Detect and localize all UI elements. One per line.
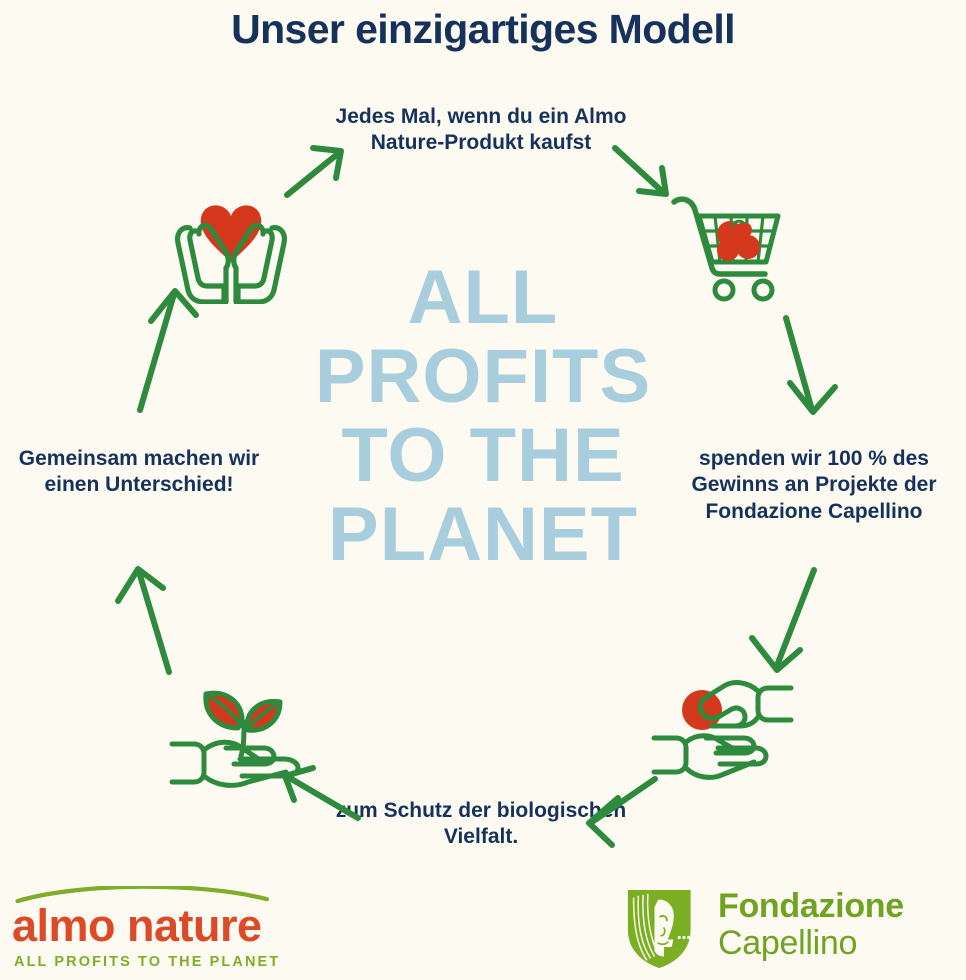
fondazione-line-2: Capellino — [718, 925, 904, 962]
fondazione-shield-icon — [626, 888, 702, 970]
shopping-cart-icon — [668, 190, 788, 302]
almo-nature-tagline: ALL PROFITS TO THE PLANET — [14, 955, 284, 970]
almo-nature-wordmark: almo nature — [12, 903, 284, 948]
step-caption-right: spenden wir 100 % des Gewinns an Projekt… — [664, 446, 964, 525]
fondazione-line-1: Fondazione — [718, 888, 904, 925]
fondazione-capellino-logo: Fondazione Capellino — [626, 886, 956, 972]
step-caption-top: Jedes Mal, wenn du ein Almo Nature-Produ… — [311, 104, 651, 157]
arrow-plant-to-left — [118, 569, 169, 672]
step-caption-left: Gemeinsam machen wir einen Unterschied! — [8, 446, 270, 499]
almo-nature-logo: almo nature ALL PROFITS TO THE PLANET — [4, 886, 284, 978]
page-title: Unser einzigartiges Modell — [0, 6, 966, 53]
center-slogan-line-1: ALL — [0, 258, 966, 337]
center-slogan-line-2: PROFITS — [0, 337, 966, 416]
plant-in-hand-icon — [168, 672, 312, 792]
coin-giving-hands-icon — [650, 676, 794, 792]
heart-in-hands-icon — [168, 186, 294, 304]
arrow-right-to-coin — [752, 570, 814, 670]
infographic-canvas: Unser einzigartiges Modell ALL PROFITS T… — [0, 0, 966, 980]
step-caption-bottom: zum Schutz der biologischen Vielfalt. — [330, 798, 632, 851]
center-slogan: ALL PROFITS TO THE PLANET — [0, 258, 966, 574]
